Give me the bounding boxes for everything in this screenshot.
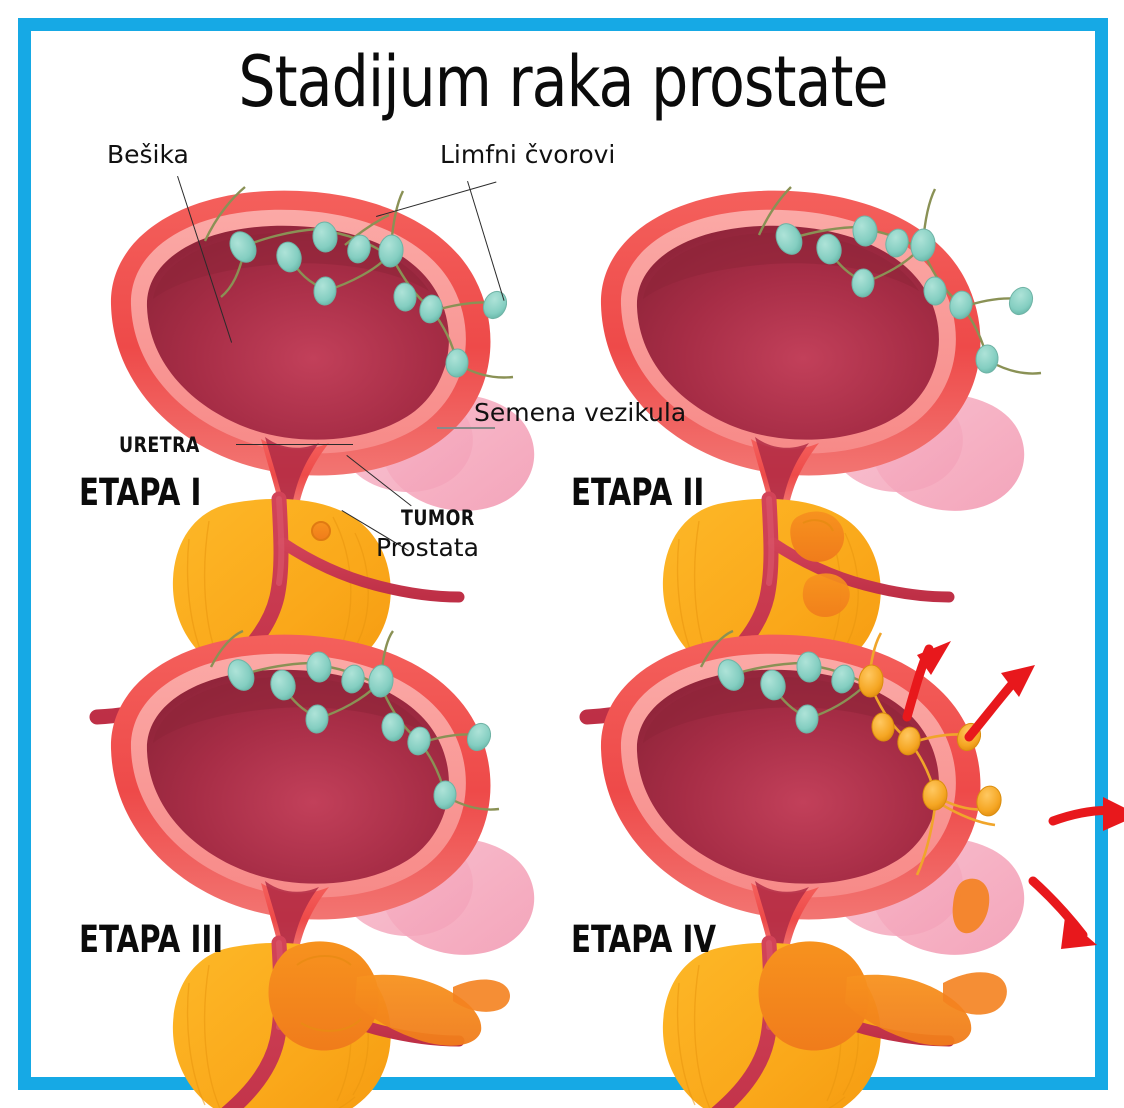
stage-label-3: ETAPA III <box>79 918 223 961</box>
stage-label-4: ETAPA IV <box>571 918 716 961</box>
stage-3-illustration <box>97 631 534 1108</box>
label-bladder: Bešika <box>107 141 189 169</box>
stage-1-tumor <box>312 522 330 540</box>
leader-line-seminal-vesicle <box>437 427 495 429</box>
label-tumor: TUMOR <box>401 504 475 532</box>
stage-label-2: ETAPA II <box>571 471 704 514</box>
label-prostate: Prostata <box>376 534 479 562</box>
label-seminal-vesicle: Semena vezikula <box>474 399 686 427</box>
label-urethra: URETRA <box>119 431 200 459</box>
label-lymph-nodes: Limfni čvorovi <box>440 141 615 169</box>
stage-label-1: ETAPA I <box>79 471 201 514</box>
prostate-cancer-stages-poster: Stadijum raka prostate <box>0 0 1124 1108</box>
poster-canvas: Stadijum raka prostate <box>31 31 1095 1077</box>
leader-line-urethra <box>236 444 353 445</box>
stage-4-illustration <box>587 631 1124 1108</box>
